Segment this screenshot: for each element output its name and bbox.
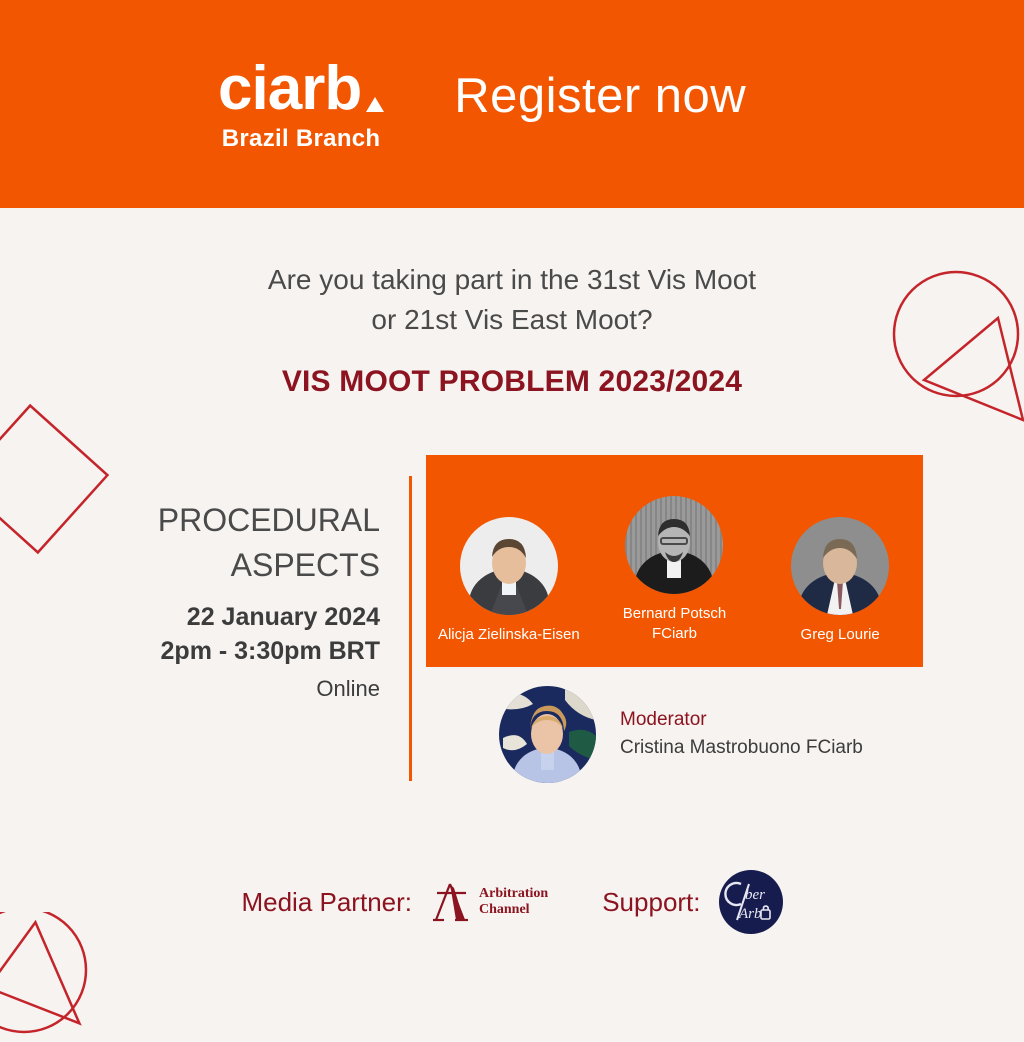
moderator-avatar xyxy=(499,686,596,783)
speaker-avatar xyxy=(625,496,723,594)
arbitration-channel-name-line-2: Channel xyxy=(479,902,548,918)
headline-question: Are you taking part in the 31st Vis Moot… xyxy=(0,260,1024,340)
arbitration-channel-logo[interactable]: Arbitration Channel xyxy=(430,880,548,924)
headline-question-line-1: Are you taking part in the 31st Vis Moot xyxy=(0,260,1024,300)
moderator-name: Cristina Mastrobuono FCiarb xyxy=(620,735,863,761)
speaker-name: Bernard Potsch FCiarb xyxy=(599,604,749,645)
ciarb-logo: ciarb Brazil Branch xyxy=(218,61,384,154)
register-now-cta[interactable]: Register now xyxy=(454,68,746,124)
event-mode: Online xyxy=(80,676,380,702)
headline-question-line-2: or 21st Vis East Moot? xyxy=(0,300,1024,340)
problem-title: VIS MOOT PROBLEM 2023/2024 xyxy=(0,365,1024,399)
svg-text:Arb: Arb xyxy=(738,906,762,922)
vertical-accent-divider xyxy=(409,476,412,781)
speaker-name: Greg Lourie xyxy=(765,625,915,645)
arbitration-channel-wordmark: Arbitration Channel xyxy=(479,886,548,917)
event-details: PROCEDURAL ASPECTS 22 January 2024 2pm -… xyxy=(80,498,380,702)
ciarb-logo-text: ciarb xyxy=(218,61,361,117)
event-topic-line-1: PROCEDURAL xyxy=(80,498,380,543)
arbitration-channel-name-line-1: Arbitration xyxy=(479,886,548,902)
speaker-card: Alicja Zielinska-Eisen xyxy=(434,517,584,645)
moderator-block: Moderator Cristina Mastrobuono FCiarb xyxy=(499,686,863,783)
moderator-label: Moderator xyxy=(620,708,863,733)
event-topic: PROCEDURAL ASPECTS xyxy=(80,498,380,589)
speaker-card: Bernard Potsch FCiarb xyxy=(599,496,749,645)
speaker-avatar xyxy=(791,517,889,615)
speaker-panel: Alicja Zielinska-Eisen xyxy=(426,455,923,667)
speaker-card: Greg Lourie xyxy=(765,517,915,645)
speaker-list: Alicja Zielinska-Eisen xyxy=(426,455,923,667)
ciarb-logo-subtitle: Brazil Branch xyxy=(222,125,381,153)
ciarb-triangle-icon xyxy=(366,97,384,112)
speaker-avatar xyxy=(460,517,558,615)
support-label: Support: xyxy=(602,887,700,918)
event-date: 22 January 2024 xyxy=(80,601,380,635)
event-time: 2pm - 3:30pm BRT xyxy=(80,635,380,669)
header-band: ciarb Brazil Branch Register now xyxy=(0,0,1024,208)
cyber-arb-logo[interactable]: ber Arb xyxy=(719,870,783,934)
moderator-text: Moderator Cristina Mastrobuono FCiarb xyxy=(620,708,863,760)
speaker-name: Alicja Zielinska-Eisen xyxy=(434,625,584,645)
media-partner-label: Media Partner: xyxy=(241,887,412,918)
event-topic-line-2: ASPECTS xyxy=(80,543,380,588)
footer-partners: Media Partner: Arbitration Channel Suppo… xyxy=(0,870,1024,934)
arbitration-channel-a-icon xyxy=(430,880,470,924)
ciarb-logo-wordmark: ciarb xyxy=(218,61,384,117)
